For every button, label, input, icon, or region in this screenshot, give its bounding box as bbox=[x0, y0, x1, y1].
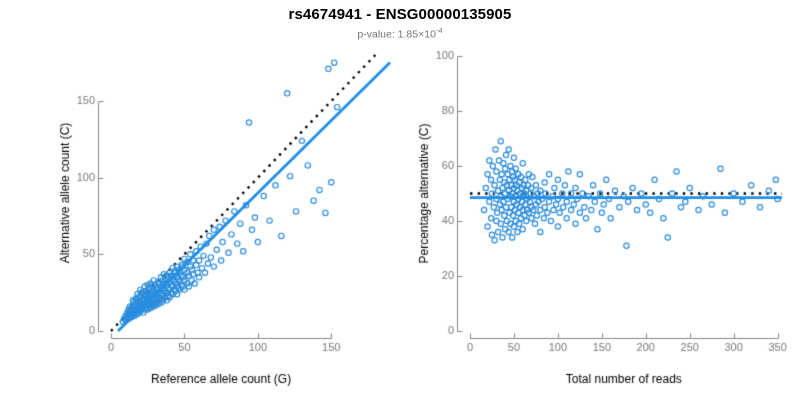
scatter-figure-canvas bbox=[0, 0, 800, 400]
